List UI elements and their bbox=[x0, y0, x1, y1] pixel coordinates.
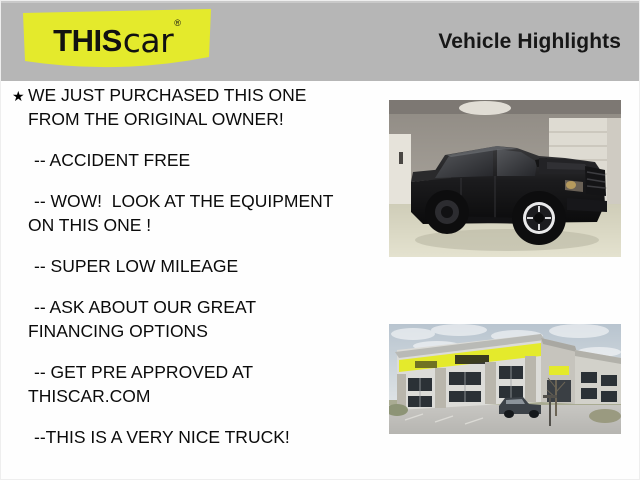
highlight-block: ★WE JUST PURCHASED THIS ONEFROM THE ORIG… bbox=[11, 83, 376, 131]
highlight-lines: --THIS IS A VERY NICE TRUCK! bbox=[28, 425, 376, 449]
dealership-photo[interactable] bbox=[389, 324, 621, 434]
highlight-lines: -- SUPER LOW MILEAGE bbox=[28, 254, 376, 278]
highlight-line: FROM THE ORIGINAL OWNER! bbox=[28, 107, 376, 131]
highlight-block: -- ASK ABOUT OUR GREATFINANCING OPTIONS bbox=[11, 295, 376, 343]
highlight-block: -- ACCIDENT FREE bbox=[11, 148, 376, 172]
dealership-photo-image bbox=[389, 324, 621, 434]
highlight-block: --THIS IS A VERY NICE TRUCK! bbox=[11, 425, 376, 449]
highlight-lines: WE JUST PURCHASED THIS ONEFROM THE ORIGI… bbox=[28, 83, 376, 131]
thiscar-logo[interactable]: THIScar® bbox=[19, 9, 215, 75]
highlight-line: ON THIS ONE ! bbox=[28, 213, 376, 237]
highlight-block: -- GET PRE APPROVED ATTHISCAR.COM bbox=[11, 360, 376, 408]
registered-trademark-icon: ® bbox=[174, 18, 181, 28]
highlights-list: ★WE JUST PURCHASED THIS ONEFROM THE ORIG… bbox=[1, 83, 376, 466]
highlight-block: -- SUPER LOW MILEAGE bbox=[11, 254, 376, 278]
vehicle-highlights-slide: THIScar® Vehicle Highlights ★WE JUST PUR… bbox=[0, 0, 640, 480]
page-title: Vehicle Highlights bbox=[438, 30, 621, 54]
vehicle-photo-image bbox=[389, 100, 621, 257]
highlight-line: --THIS IS A VERY NICE TRUCK! bbox=[28, 425, 376, 449]
highlight-lines: -- ACCIDENT FREE bbox=[28, 148, 376, 172]
logo-wordmark: THIScar® bbox=[19, 9, 215, 75]
star-bullet-icon: ★ bbox=[12, 84, 25, 108]
highlight-line: FINANCING OPTIONS bbox=[28, 319, 376, 343]
page-header: THIScar® Vehicle Highlights bbox=[1, 1, 640, 81]
logo-text-this: THIS bbox=[53, 25, 122, 56]
highlight-lines: -- ASK ABOUT OUR GREATFINANCING OPTIONS bbox=[28, 295, 376, 343]
logo-text-car: car bbox=[123, 24, 173, 57]
vehicle-photo[interactable] bbox=[389, 100, 621, 257]
highlight-lines: -- GET PRE APPROVED ATTHISCAR.COM bbox=[28, 360, 376, 408]
highlight-line: -- SUPER LOW MILEAGE bbox=[28, 254, 376, 278]
highlight-line: -- ACCIDENT FREE bbox=[28, 148, 376, 172]
highlight-lines: -- WOW! LOOK AT THE EQUIPMENTON THIS ONE… bbox=[28, 189, 376, 237]
highlight-line: WE JUST PURCHASED THIS ONE bbox=[28, 83, 376, 107]
highlight-line: -- ASK ABOUT OUR GREAT bbox=[28, 295, 376, 319]
highlight-block: -- WOW! LOOK AT THE EQUIPMENTON THIS ONE… bbox=[11, 189, 376, 237]
highlight-line: -- GET PRE APPROVED AT bbox=[28, 360, 376, 384]
highlight-line: THISCAR.COM bbox=[28, 384, 376, 408]
highlight-line: -- WOW! LOOK AT THE EQUIPMENT bbox=[28, 189, 376, 213]
